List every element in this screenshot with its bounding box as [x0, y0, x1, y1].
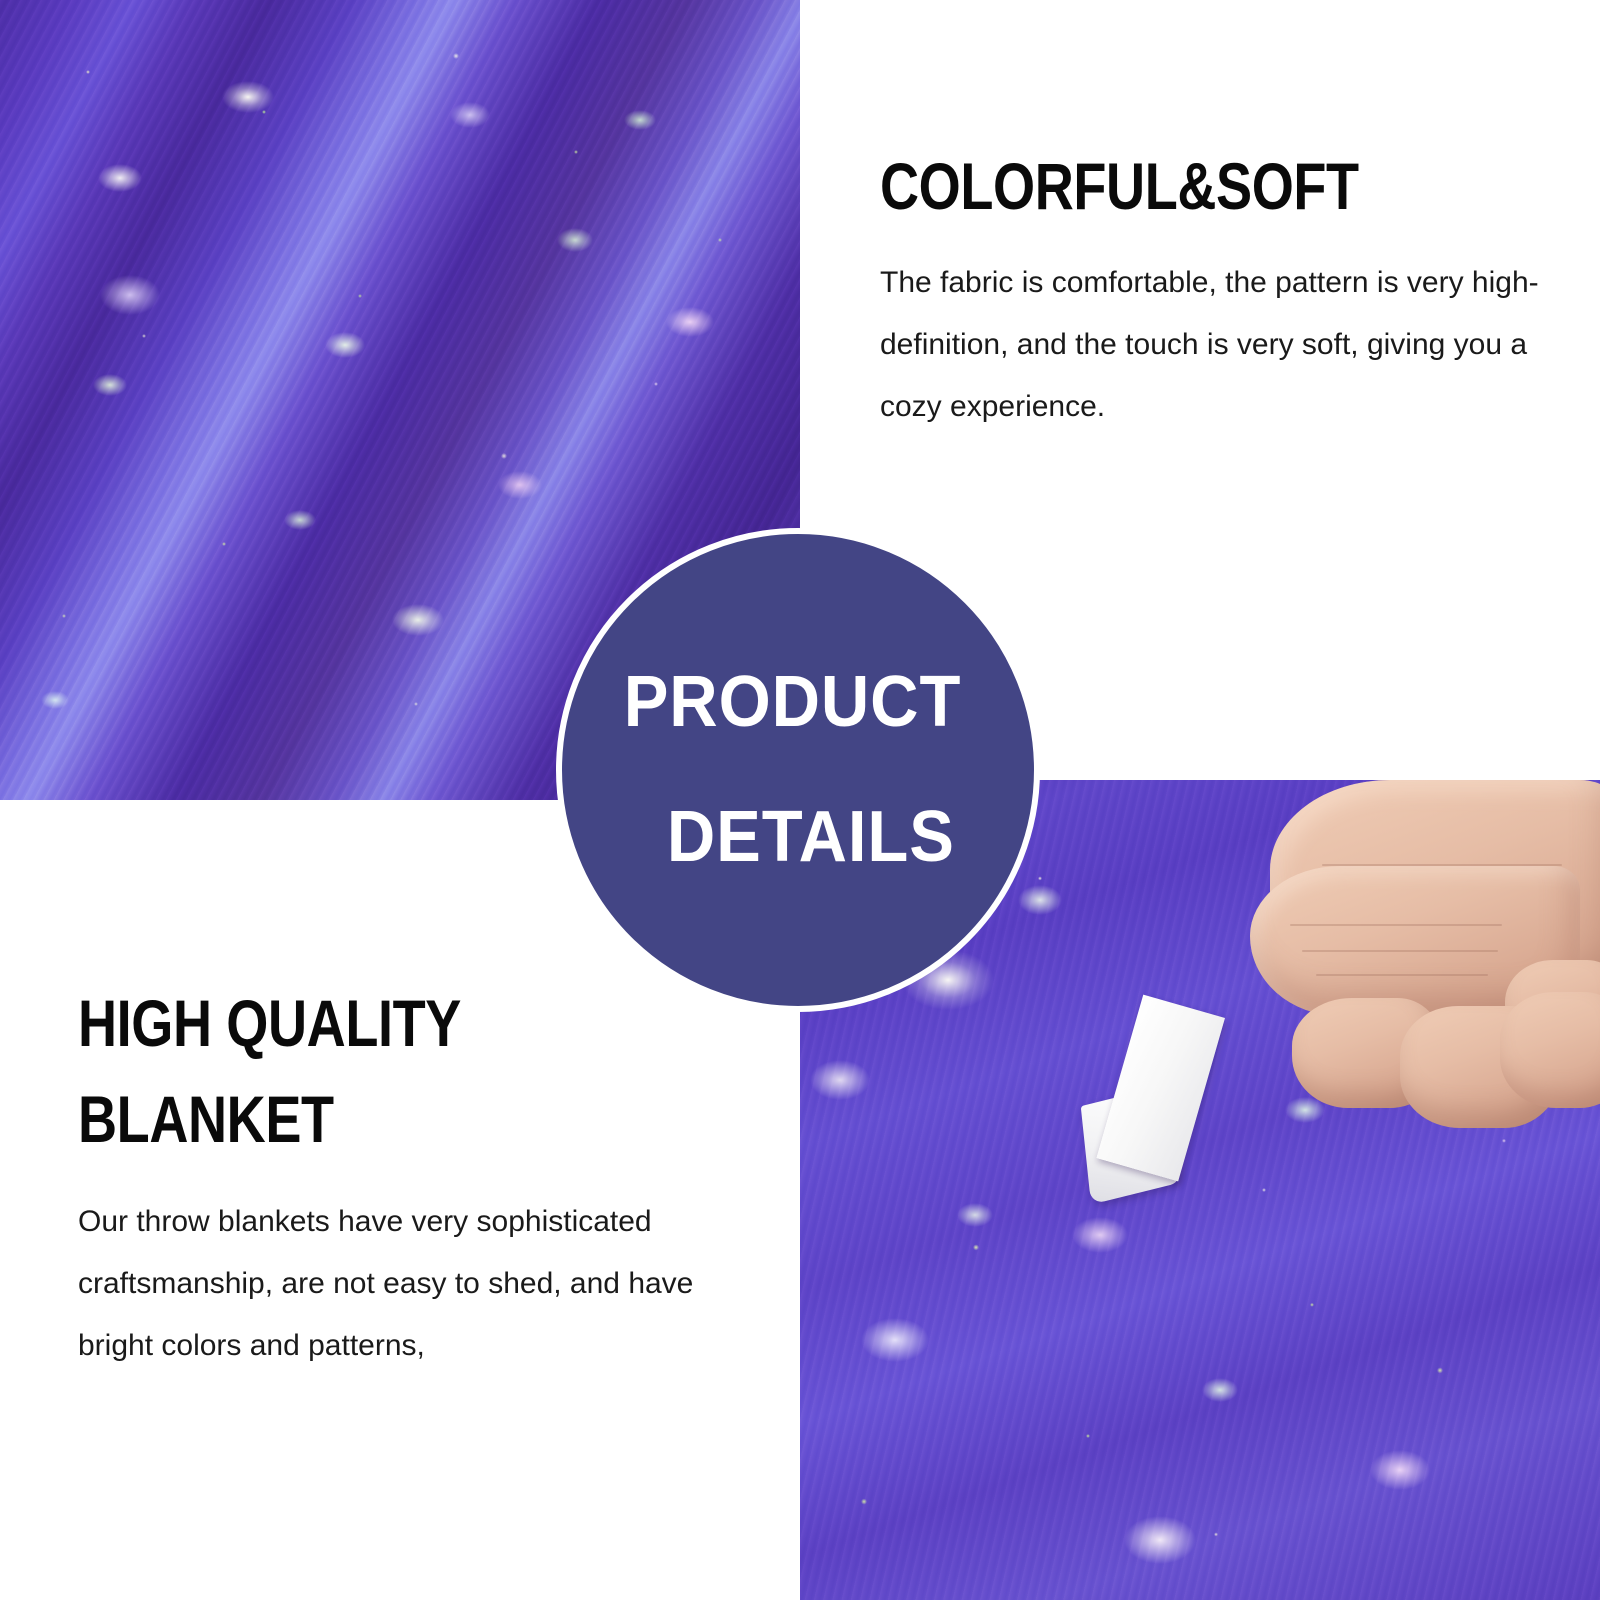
- section-colorful-soft: COLORFUL&SOFT The fabric is comfortable,…: [880, 150, 1540, 438]
- product-details-badge: PRODUCT DETAILS: [556, 528, 1040, 1012]
- colorful-soft-body: The fabric is comfortable, the pattern i…: [880, 252, 1570, 438]
- high-quality-body: Our throw blankets have very sophisticat…: [78, 1191, 698, 1377]
- tag-strip: [1096, 995, 1225, 1182]
- high-quality-heading-line2: BLANKET: [78, 1071, 603, 1167]
- badge-line-product: PRODUCT: [623, 666, 961, 739]
- high-quality-heading-line1: HIGH QUALITY: [78, 975, 603, 1071]
- section-high-quality-blanket: HIGH QUALITY BLANKET Our throw blankets …: [78, 975, 718, 1377]
- product-infographic: PRODUCT DETAILS COLORFUL&SOFT The fabric…: [0, 0, 1600, 1600]
- badge-line-details: DETAILS: [667, 801, 955, 874]
- white-paper-tag: [1070, 1010, 1290, 1195]
- colorful-soft-heading: COLORFUL&SOFT: [880, 150, 1421, 222]
